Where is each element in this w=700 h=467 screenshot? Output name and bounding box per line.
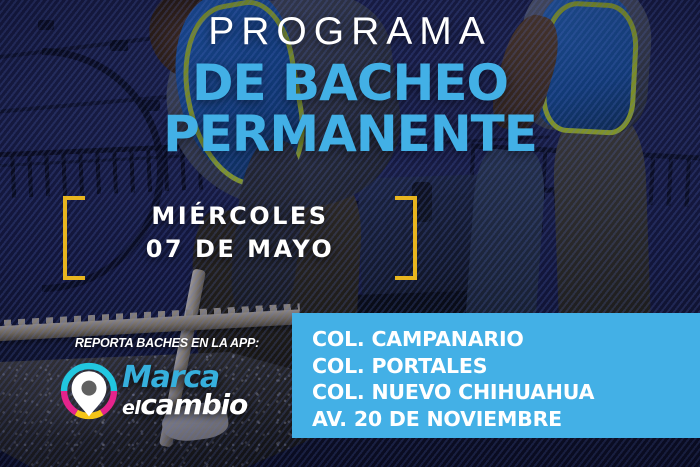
headline-line-1: DE BACHEO: [0, 59, 700, 108]
street-item: COL. CAMPANARIO: [312, 326, 700, 353]
logo-word-el: el: [122, 397, 140, 419]
poster-content: PROGRAMA DE BACHEO PERMANENTE MIÉRCOLES …: [0, 0, 700, 467]
date-block: MIÉRCOLES 07 DE MAYO: [60, 196, 420, 272]
logo-word-cambio: cambio: [140, 388, 247, 421]
headline-line-2: PERMANENTE: [0, 110, 700, 159]
street-item: COL. PORTALES: [312, 353, 700, 380]
app-callout: REPORTA BACHES EN LA APP: Marca elcambio: [56, 336, 278, 420]
street-item: AV. 20 DE NOVIEMBRE: [312, 406, 700, 433]
street-item: COL. NUEVO CHIHUAHUA: [312, 379, 700, 406]
bracket-left-icon: [63, 196, 85, 280]
date-text: MIÉRCOLES 07 DE MAYO: [88, 200, 392, 266]
app-callout-label: REPORTA BACHES EN LA APP:: [56, 336, 278, 350]
marca-el-cambio-logo[interactable]: Marca elcambio: [60, 362, 278, 420]
poster-canvas: PROGRAMA DE BACHEO PERMANENTE MIÉRCOLES …: [0, 0, 700, 467]
logo-wordmark: Marca elcambio: [122, 364, 247, 417]
headline-block: PROGRAMA DE BACHEO PERMANENTE: [0, 12, 700, 158]
streets-panel: COL. CAMPANARIO COL. PORTALES COL. NUEVO…: [292, 313, 700, 438]
bracket-right-icon: [395, 196, 417, 280]
location-pin-icon: [60, 362, 118, 420]
date-day-month: 07 DE MAYO: [88, 233, 392, 266]
date-weekday: MIÉRCOLES: [88, 200, 392, 233]
kicker-text: PROGRAMA: [0, 12, 700, 51]
